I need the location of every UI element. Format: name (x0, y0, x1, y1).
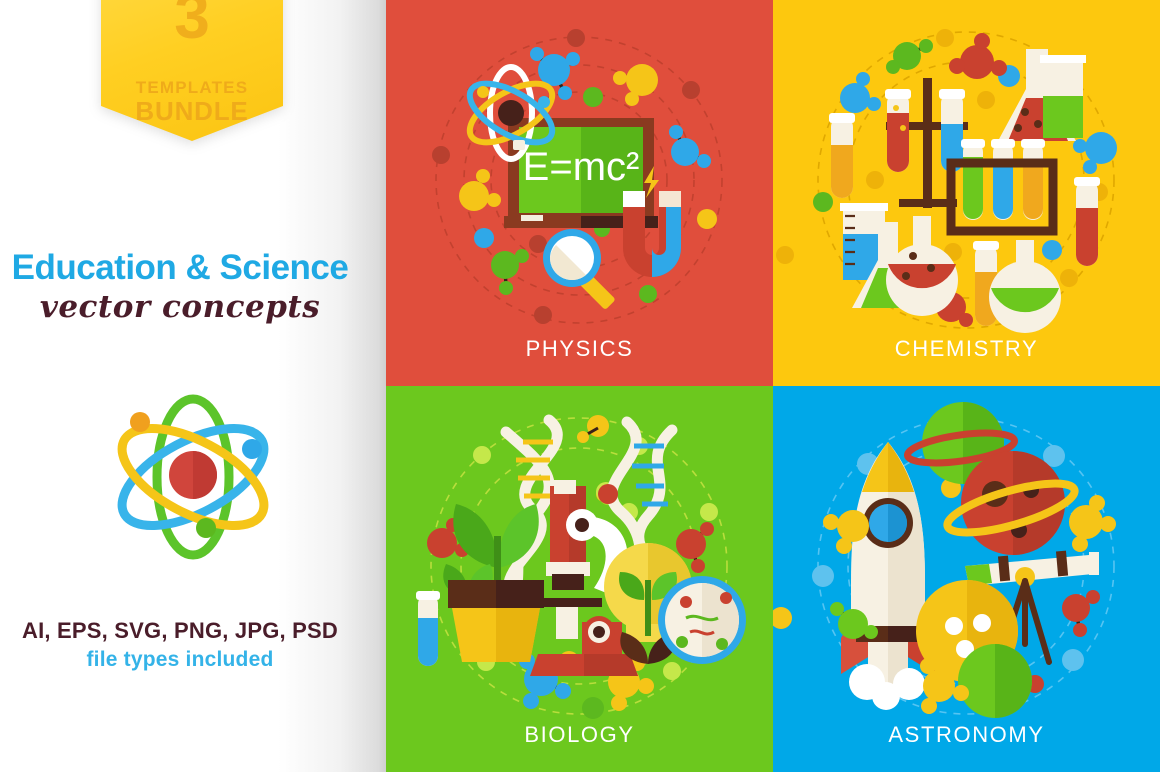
panel-physics[interactable]: E=mc² (386, 0, 773, 386)
test-tube-icon (1074, 177, 1100, 266)
atom-electron-orange (130, 412, 150, 432)
cover-headline: Education & Science vector concepts (0, 250, 360, 325)
templates-bundle-ribbon: 3 TEMPLATES BUNDLE (101, 0, 283, 176)
test-tube-icon (829, 113, 855, 198)
petri-dish-icon (658, 576, 746, 664)
test-tube-rack-icon (951, 139, 1053, 231)
file-types-caption: file types included (0, 648, 360, 672)
panel-label-biology: BIOLOGY (386, 722, 773, 748)
rocket-icon (841, 442, 935, 710)
ribbon-line-templates: TEMPLATES (101, 78, 283, 98)
atom-logo (104, 382, 282, 572)
panel-label-chemistry: CHEMISTRY (773, 336, 1160, 362)
atom-nucleus-shade (193, 451, 217, 499)
chemistry-illustration (773, 0, 1160, 386)
panel-chemistry[interactable]: CHEMISTRY (773, 0, 1160, 386)
magnifier-icon (543, 229, 616, 310)
panel-label-physics: PHYSICS (386, 336, 773, 362)
atom-electron-green (196, 518, 216, 538)
astronomy-illustration (773, 386, 1160, 772)
page-title: Education & Science (0, 250, 360, 287)
atom-icon-nucleus (498, 100, 524, 126)
test-tube-icon (416, 591, 440, 666)
cover-panel: 3 TEMPLATES BUNDLE Education & Science v… (0, 0, 386, 772)
physics-illustration: E=mc² (386, 0, 773, 386)
file-types-list: AI, EPS, SVG, PNG, JPG, PSD (0, 618, 360, 644)
biology-illustration (386, 386, 773, 772)
blackboard-formula: E=mc² (523, 145, 640, 189)
green-planet-icon (958, 644, 1032, 718)
poster-canvas: 3 TEMPLATES BUNDLE Education & Science v… (0, 0, 1160, 772)
test-tube-icon (885, 89, 911, 172)
ribbon-count: 3 (101, 0, 283, 48)
panel-label-astronomy: ASTRONOMY (773, 722, 1160, 748)
page-subtitle: vector concepts (0, 289, 360, 325)
file-types-block: AI, EPS, SVG, PNG, JPG, PSD file types i… (0, 618, 360, 672)
ribbon-line-bundle: BUNDLE (101, 96, 283, 127)
panel-astronomy[interactable]: ASTRONOMY (773, 386, 1160, 772)
beaker-icon (1040, 55, 1086, 138)
atom-electron-blue (242, 439, 262, 459)
potted-plant-icon (443, 504, 544, 662)
panel-biology[interactable]: BIOLOGY (386, 386, 773, 772)
